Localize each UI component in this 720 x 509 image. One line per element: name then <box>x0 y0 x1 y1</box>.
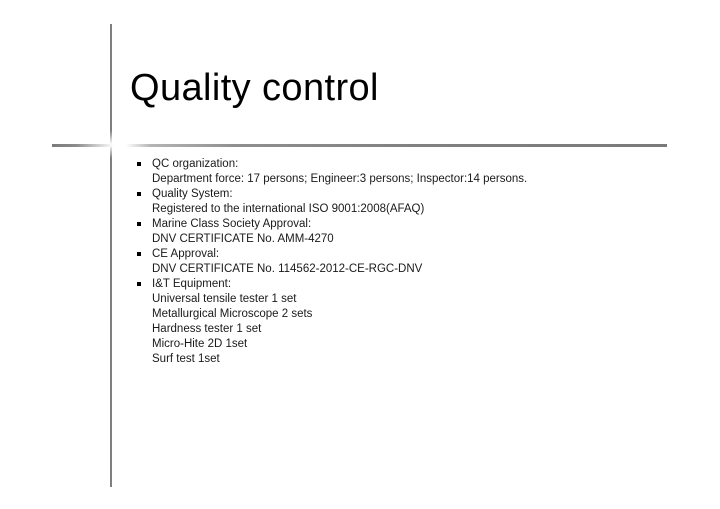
bullet-detail-line: Department force: 17 persons; Engineer:3… <box>137 172 697 187</box>
bullet-detail-line: Universal tensile tester 1 set <box>137 292 697 307</box>
bullet-group: I&T Equipment:Universal tensile tester 1… <box>137 277 697 367</box>
bullet-detail-line: Hardness tester 1 set <box>137 322 697 337</box>
bullet-detail-line: Surf test 1set <box>137 352 697 367</box>
bullet-heading: CE Approval: <box>137 247 697 262</box>
slide-canvas: Quality control QC organization:Departme… <box>0 0 720 509</box>
bullet-detail-line: Registered to the international ISO 9001… <box>137 202 697 217</box>
square-bullet-icon <box>137 222 141 226</box>
square-bullet-icon <box>137 192 141 196</box>
bullet-heading: I&T Equipment: <box>137 277 697 292</box>
bullet-heading: Quality System: <box>137 187 697 202</box>
bullet-detail-line: Micro-Hite 2D 1set <box>137 337 697 352</box>
vertical-divider-rule <box>110 24 112 487</box>
bullet-detail-line: Metallurgical Microscope 2 sets <box>137 307 697 322</box>
slide-title: Quality control <box>130 68 379 110</box>
square-bullet-icon <box>137 252 141 256</box>
content-list: QC organization:Department force: 17 per… <box>137 157 697 367</box>
bullet-detail-line: DNV CERTIFICATE No. AMM-4270 <box>137 232 697 247</box>
bullet-heading-label: I&T Equipment: <box>152 278 231 290</box>
bullet-heading-label: Marine Class Society Approval: <box>152 218 311 230</box>
bullet-heading: Marine Class Society Approval: <box>137 217 697 232</box>
bullet-detail-line: DNV CERTIFICATE No. 114562-2012-CE-RGC-D… <box>137 262 697 277</box>
bullet-group: Marine Class Society Approval:DNV CERTIF… <box>137 217 697 247</box>
bullet-heading-label: CE Approval: <box>152 248 219 260</box>
bullet-group: QC organization:Department force: 17 per… <box>137 157 697 187</box>
bullet-group: Quality System:Registered to the interna… <box>137 187 697 217</box>
square-bullet-icon <box>137 282 141 286</box>
horizontal-divider-rule <box>52 144 667 147</box>
square-bullet-icon <box>137 162 141 166</box>
bullet-heading: QC organization: <box>137 157 697 172</box>
bullet-heading-label: QC organization: <box>152 158 238 170</box>
bullet-heading-label: Quality System: <box>152 188 233 200</box>
bullet-group: CE Approval:DNV CERTIFICATE No. 114562-2… <box>137 247 697 277</box>
